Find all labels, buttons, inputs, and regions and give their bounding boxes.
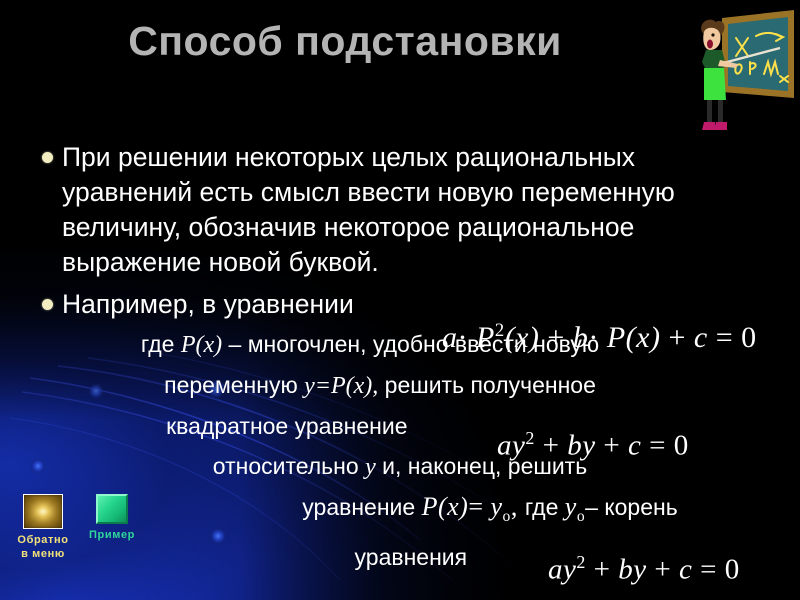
bullet-dot-icon: [42, 299, 53, 310]
example-button[interactable]: Пример: [80, 494, 144, 542]
teacher-shoe: [714, 122, 727, 130]
teacher-at-blackboard-icon: [676, 4, 798, 136]
green-square-icon[interactable]: [96, 494, 128, 524]
equation-quadratic-second: ay2 + by + c = 0: [548, 552, 740, 587]
bullet-text-2: Например, в уравнении: [62, 289, 354, 319]
back-to-menu-button[interactable]: Обратно в меню: [8, 494, 78, 561]
gold-square-icon[interactable]: [23, 494, 63, 529]
back-to-menu-label: Обратно в меню: [8, 533, 78, 561]
inline-math-y-eq-px: y=P(x),: [304, 373, 378, 399]
example-label: Пример: [80, 528, 144, 542]
teacher-top: [702, 50, 726, 70]
page-title: Способ подстановки: [0, 18, 690, 65]
equation-quadratic-first: ay2 + by + c = 0: [497, 428, 689, 463]
teacher-shoe: [702, 122, 715, 130]
slide-canvas: Способ подстановки: [0, 0, 800, 600]
inline-equation-px-equals-y0: P(x)= yo,: [422, 492, 525, 521]
text-line-peremennuyu: переменную y=P(x), решить полученное: [0, 365, 800, 406]
bullet-dot-icon: [42, 152, 53, 163]
inline-math-y: y: [365, 454, 376, 480]
bullet-text-1: При решении некоторых целых рациональных…: [62, 142, 675, 277]
bullet-item: При решении некоторых целых рациональных…: [0, 140, 682, 280]
bullet-item: Например, в уравнении: [0, 287, 800, 322]
inline-math-y0: yo: [565, 492, 585, 521]
inline-math-px: P(x): [181, 332, 222, 358]
teacher-skirt: [704, 68, 726, 100]
equation-main: a· P2(x) + b· P(x) + c = 0: [442, 320, 757, 355]
